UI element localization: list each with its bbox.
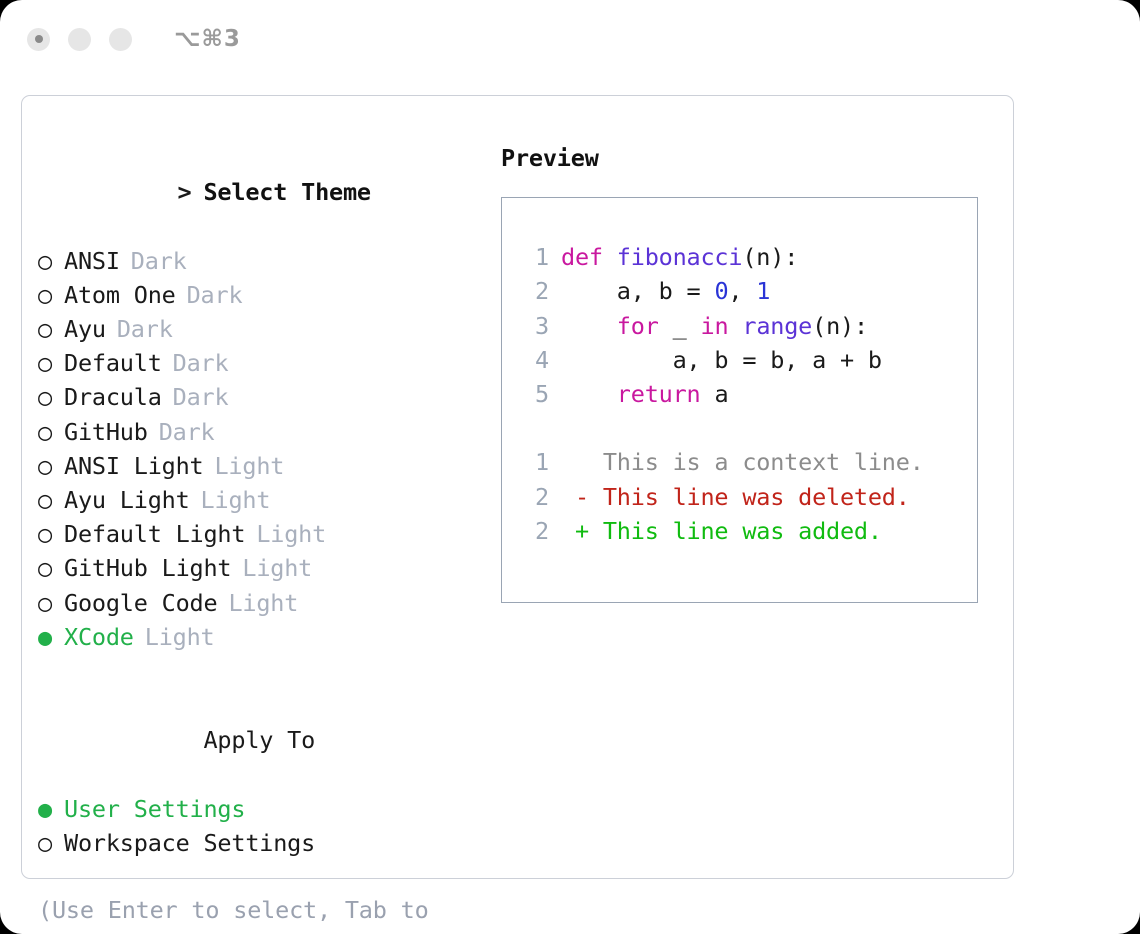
theme-option-github[interactable]: GitHubDark — [38, 415, 492, 449]
code-line-number: 2 — [519, 274, 549, 308]
theme-option-ayu-light[interactable]: Ayu LightLight — [38, 483, 492, 517]
section-spacer — [38, 654, 492, 689]
code-line: 1def fibonacci(n): — [502, 240, 977, 274]
radio-unselected-icon — [38, 551, 64, 585]
apply-to-option-workspace-settings[interactable]: Workspace Settings — [38, 826, 492, 860]
apply-to-option-user-settings[interactable]: User Settings — [38, 792, 492, 826]
diff-line: 1 This is a context line. — [502, 445, 977, 479]
code-token: fibonacci — [617, 243, 743, 271]
diff-line-text: This is a context line. — [561, 448, 924, 476]
header-marker-icon: > — [177, 175, 203, 209]
preview-column: Preview 1def fibonacci(n):2 a, b = 0, 13… — [492, 96, 1013, 878]
code-token: , — [728, 277, 756, 305]
code-token: for — [617, 312, 659, 340]
radio-selected-icon — [38, 620, 64, 654]
theme-option-label: Default Light — [64, 520, 245, 548]
theme-option-kind: Light — [228, 589, 298, 617]
apply-to-header: Apply To — [38, 689, 492, 792]
radio-unselected-icon — [38, 380, 64, 414]
theme-option-ansi-light[interactable]: ANSI LightLight — [38, 449, 492, 483]
diff-line-number: 1 — [519, 445, 549, 479]
code-token: a, b = — [561, 277, 714, 305]
theme-option-label: ANSI Light — [64, 452, 203, 480]
theme-option-label: Dracula — [64, 383, 162, 411]
keyboard-hint-text: (Use Enter to select, Tab to change focu… — [38, 893, 448, 934]
window-controls — [27, 28, 132, 51]
theme-option-label: Ayu Light — [64, 486, 190, 514]
code-token: (n): — [812, 312, 868, 340]
radio-unselected-icon — [38, 586, 64, 620]
theme-option-label: Google Code — [64, 589, 217, 617]
code-line-number: 1 — [519, 240, 549, 274]
code-token — [561, 312, 617, 340]
select-theme-header-label: Select Theme — [203, 178, 370, 206]
preview-box: 1def fibonacci(n):2 a, b = 0, 13 for _ i… — [501, 197, 978, 603]
code-line: 3 for _ in range(n): — [502, 309, 977, 343]
theme-option-kind: Dark — [131, 247, 187, 275]
code-sample: 1def fibonacci(n):2 a, b = 0, 13 for _ i… — [502, 240, 977, 411]
hint-spacer — [38, 860, 492, 893]
code-token: range — [742, 312, 812, 340]
radio-unselected-icon — [38, 415, 64, 449]
theme-option-label: XCode — [64, 623, 134, 651]
theme-option-label: Default — [64, 349, 162, 377]
code-token — [561, 380, 617, 408]
radio-unselected-icon — [38, 517, 64, 551]
code-token: return — [617, 380, 701, 408]
select-theme-header: >Select Theme — [38, 141, 492, 244]
theme-option-default-light[interactable]: Default LightLight — [38, 517, 492, 551]
diff-line: 2 + This line was added. — [502, 514, 977, 548]
theme-option-kind: Light — [201, 486, 271, 514]
theme-selector-column: >Select Theme ANSIDarkAtom OneDarkAyuDar… — [22, 96, 492, 878]
theme-option-label: GitHub — [64, 418, 148, 446]
main-panel: >Select Theme ANSIDarkAtom OneDarkAyuDar… — [21, 95, 1014, 879]
theme-option-label: Atom One — [64, 281, 176, 309]
theme-option-label: ANSI — [64, 247, 120, 275]
code-token: _ — [659, 312, 701, 340]
theme-option-kind: Dark — [173, 383, 229, 411]
diff-line-text: + This line was added. — [561, 517, 882, 545]
radio-unselected-icon — [38, 483, 64, 517]
theme-option-xcode[interactable]: XCodeLight — [38, 620, 492, 654]
radio-unselected-icon — [38, 346, 64, 380]
theme-option-atom-one[interactable]: Atom OneDark — [38, 278, 492, 312]
apply-to-header-label: Apply To — [203, 726, 315, 754]
theme-option-kind: Dark — [187, 281, 243, 309]
code-token: 0 — [714, 277, 728, 305]
keyboard-shortcut-label: ⌥⌘3 — [174, 26, 241, 52]
theme-option-kind: Dark — [159, 418, 215, 446]
theme-option-kind: Light — [214, 452, 284, 480]
theme-option-kind: Dark — [173, 349, 229, 377]
window-dot-third-icon[interactable] — [109, 28, 132, 51]
preview-title: Preview — [501, 141, 1013, 175]
code-line-number: 3 — [519, 309, 549, 343]
diff-sample: 1 This is a context line.2 - This line w… — [502, 445, 977, 548]
code-line: 5 return a — [502, 377, 977, 411]
radio-selected-icon — [38, 792, 64, 826]
theme-option-google-code[interactable]: Google CodeLight — [38, 586, 492, 620]
radio-unselected-icon — [38, 244, 64, 278]
theme-option-ayu[interactable]: AyuDark — [38, 312, 492, 346]
code-diff-spacer — [502, 411, 977, 445]
theme-option-kind: Dark — [117, 315, 173, 343]
theme-option-ansi[interactable]: ANSIDark — [38, 244, 492, 278]
radio-unselected-icon — [38, 449, 64, 483]
theme-option-label: GitHub Light — [64, 554, 231, 582]
diff-line-text: - This line was deleted. — [561, 483, 910, 511]
theme-option-default[interactable]: DefaultDark — [38, 346, 492, 380]
window-dot-active-icon[interactable] — [27, 28, 50, 51]
code-line-number: 4 — [519, 343, 549, 377]
radio-unselected-icon — [38, 312, 64, 346]
app-window: ⌥⌘3 >Select Theme ANSIDarkAtom OneDarkAy… — [0, 0, 1140, 934]
theme-list: ANSIDarkAtom OneDarkAyuDarkDefaultDarkDr… — [38, 244, 492, 654]
code-token: (n): — [742, 243, 798, 271]
title-bar: ⌥⌘3 — [0, 0, 1140, 78]
diff-line-number: 2 — [519, 480, 549, 514]
code-token: a, b = b, a + b — [561, 346, 882, 374]
apply-to-option-label: Workspace Settings — [64, 829, 315, 857]
code-line-number: 5 — [519, 377, 549, 411]
window-dot-second-icon[interactable] — [68, 28, 91, 51]
code-token: a — [701, 380, 729, 408]
theme-option-dracula[interactable]: DraculaDark — [38, 380, 492, 414]
code-line: 2 a, b = 0, 1 — [502, 274, 977, 308]
apply-to-option-label: User Settings — [64, 795, 245, 823]
code-token: def — [561, 243, 617, 271]
window-dot-inner-icon — [35, 35, 43, 43]
code-token — [728, 312, 742, 340]
theme-option-kind: Light — [256, 520, 326, 548]
apply-to-list: User SettingsWorkspace Settings — [38, 792, 492, 860]
diff-line: 2 - This line was deleted. — [502, 480, 977, 514]
code-line: 4 a, b = b, a + b — [502, 343, 977, 377]
code-token: in — [701, 312, 729, 340]
radio-unselected-icon — [38, 826, 64, 860]
theme-option-kind: Light — [242, 554, 312, 582]
theme-option-label: Ayu — [64, 315, 106, 343]
theme-option-kind: Light — [145, 623, 215, 651]
diff-line-number: 2 — [519, 514, 549, 548]
theme-option-github-light[interactable]: GitHub LightLight — [38, 551, 492, 585]
radio-unselected-icon — [38, 278, 64, 312]
code-token: 1 — [756, 277, 770, 305]
